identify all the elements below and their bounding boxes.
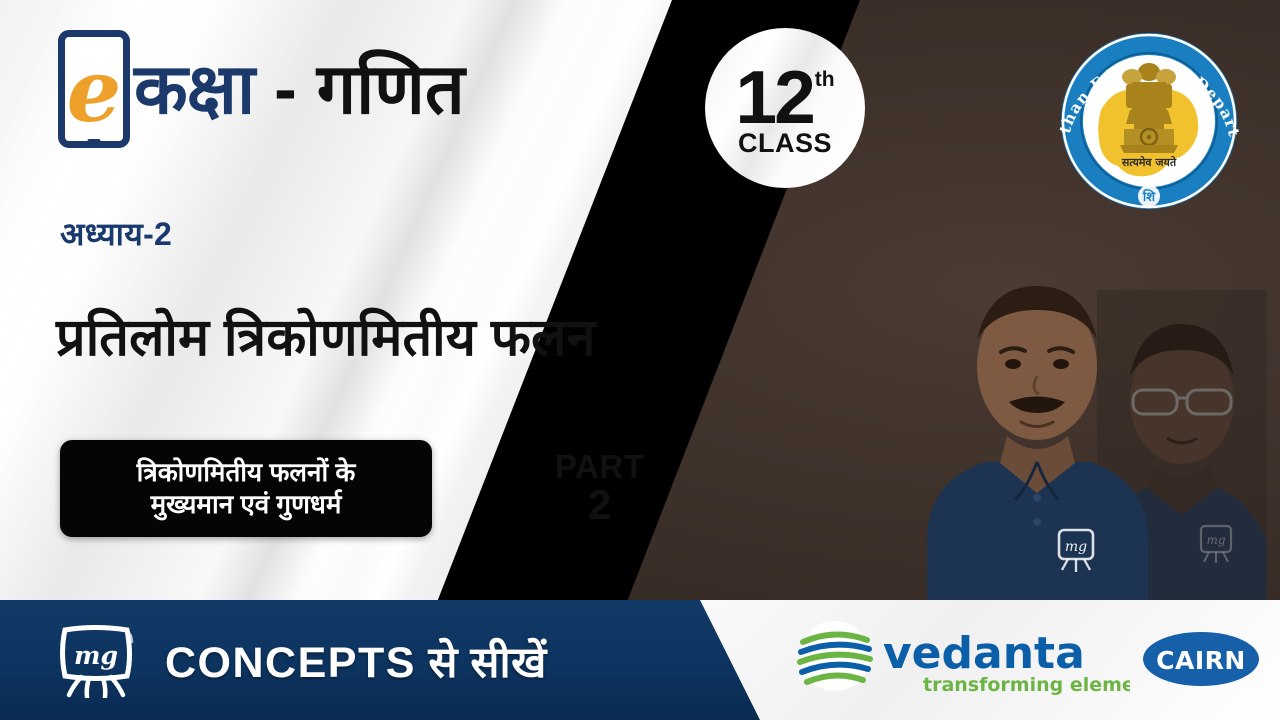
footer-tagline-latin: CONCEPTS — [165, 639, 416, 687]
brand-letter-e: e — [67, 58, 122, 125]
vedanta-tagline: transforming elements — [923, 674, 1130, 696]
class-label: CLASS — [738, 128, 832, 159]
phone-home-button — [88, 139, 101, 145]
mg-logo-text: mg — [74, 641, 118, 670]
part-indicator: PART 2 — [555, 450, 644, 526]
vedanta-globe-icon — [800, 621, 870, 691]
subtitle-badge: त्रिकोणमितीय फलनों के मुख्यमान एवं गुणधर… — [60, 440, 432, 537]
vedanta-name: vedanta — [883, 628, 1085, 679]
svg-text:mg: mg — [1065, 539, 1087, 555]
cairn-logo: CAIRN — [1140, 630, 1262, 688]
vedanta-logo: vedanta transforming elements — [795, 620, 1130, 698]
brand-header: e कक्षा - गणित — [58, 30, 465, 148]
mg-blackboard-icon: mg — [55, 622, 137, 698]
chapter-label: अध्याय-2 — [60, 212, 172, 255]
rajasthan-education-department-emblem-icon: Rajasthan Education Department सत्यमेव ज… — [1046, 18, 1252, 224]
footer-tagline-hindi: से सीखें — [428, 639, 546, 687]
brand-subject: गणित — [317, 54, 465, 124]
video-title-card: mg mg — [0, 0, 1280, 720]
class-number-wrap: 12 th — [735, 64, 834, 130]
brand-separator: - — [274, 55, 297, 123]
instructor-front: mg — [925, 260, 1150, 620]
part-label: PART — [555, 450, 644, 484]
footer-tagline: CONCEPTS से सीखें — [165, 631, 547, 690]
phone-speaker — [81, 33, 107, 36]
subtitle-line-1: त्रिकोणमितीय फलनों के — [137, 457, 356, 489]
page-title: प्रतिलोम त्रिकोणमितीय फलन — [56, 300, 596, 371]
class-number: 12 — [735, 64, 812, 130]
instructor-photos: mg mg — [905, 235, 1280, 620]
brand-word: कक्षा — [134, 54, 254, 124]
emblem-motto: सत्यमेव जयते — [1121, 155, 1177, 169]
subtitle-line-2: मुख्यमान एवं गुणधर्म — [151, 489, 342, 521]
cairn-name: CAIRN — [1156, 646, 1246, 675]
phone-tablet-icon: e — [58, 30, 130, 148]
part-number: 2 — [555, 484, 644, 527]
emblem-sub-roundel: शि — [1142, 189, 1156, 205]
class-ordinal: th — [815, 68, 835, 92]
class-badge: 12 th CLASS — [705, 28, 865, 188]
